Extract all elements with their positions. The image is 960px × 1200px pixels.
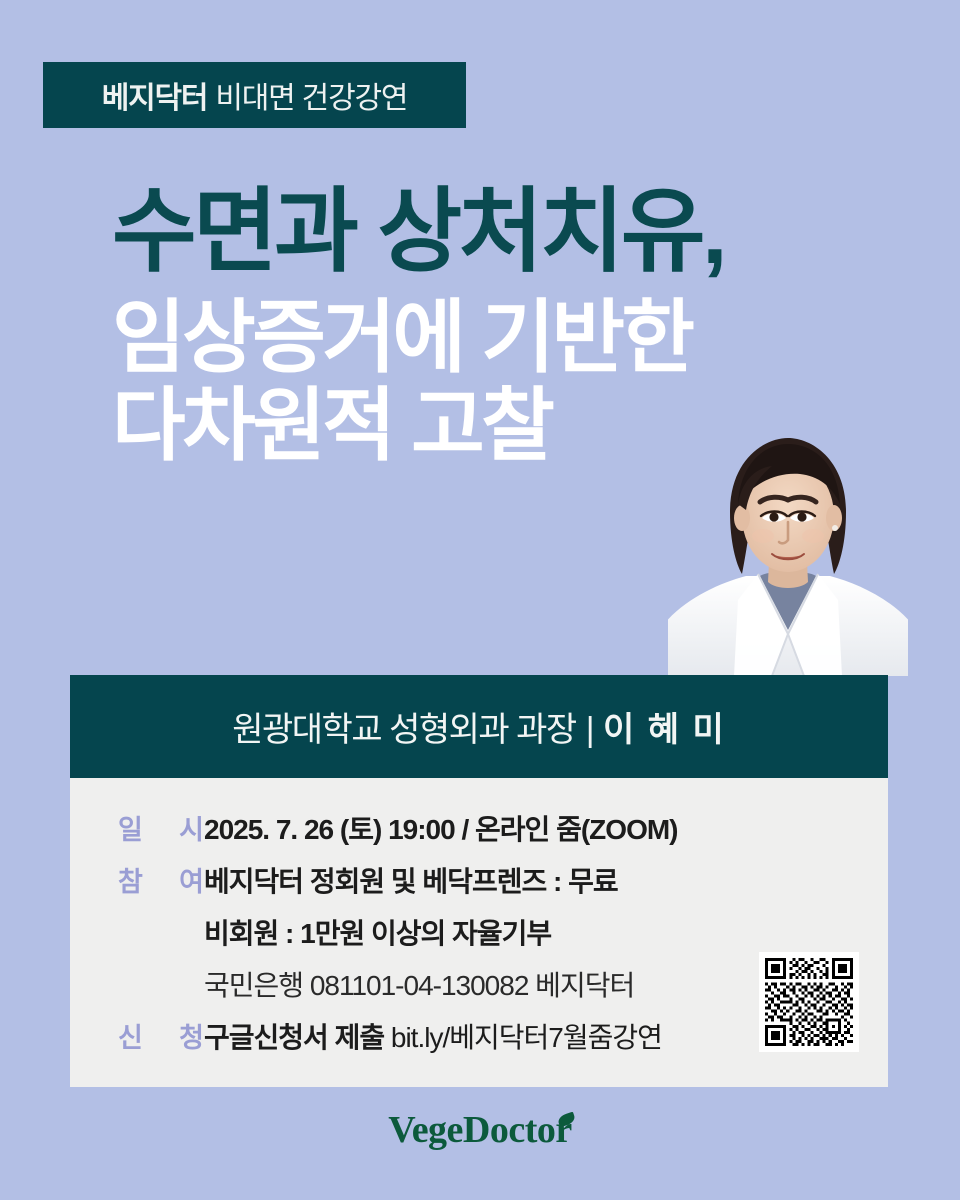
label-char-b: 청 <box>179 1016 204 1055</box>
label-char-a: 신 <box>118 1016 143 1055</box>
info-row-nonmember: 비회원 : 1만원 이상의 자율기부 <box>118 912 678 964</box>
speaker-bar: 원광대학교 성형외과 과장|이 혜 미 <box>70 675 888 778</box>
speaker-divider: | <box>576 711 603 749</box>
speaker-name: 이 혜 미 <box>603 711 726 749</box>
apply-text: 구글신청서 제출 <box>204 1022 384 1053</box>
info-row-participation: 참 여 베지닥터 정회원 및 베닥프렌즈 : 무료 <box>118 860 678 912</box>
label-char-a: 일 <box>118 808 143 847</box>
header-subtitle: 비대면 건강강연 <box>215 82 407 115</box>
label-char-b: 여 <box>179 860 204 899</box>
header-brand: 베지닥터 <box>102 82 208 115</box>
info-label-participation: 참 여 <box>118 860 204 899</box>
info-label-apply: 신 청 <box>118 1016 204 1055</box>
info-value-apply: 구글신청서 제출 bit.ly/베지닥터7월줌강연 <box>204 1016 662 1056</box>
info-label-datetime: 일 시 <box>118 808 204 847</box>
vegedoctor-logo-text: VegeDoctor <box>388 1108 572 1152</box>
header-banner: 베지닥터비대면 건강강연 <box>43 62 466 128</box>
info-row-bank: 국민은행 081101-04-130082 베지닥터 <box>118 964 678 1016</box>
info-row-apply: 신 청 구글신청서 제출 bit.ly/베지닥터7월줌강연 <box>118 1016 678 1068</box>
apply-url[interactable]: bit.ly/베지닥터7월줌강연 <box>391 1022 662 1053</box>
qr-code[interactable] <box>759 952 859 1052</box>
info-row-list: 일 시 2025. 7. 26 (토) 19:00 / 온라인 줌(ZOOM) … <box>118 808 678 1068</box>
logo-label: VegeDoctor <box>388 1109 572 1151</box>
speaker-bar-text: 원광대학교 성형외과 과장|이 혜 미 <box>232 702 726 751</box>
title-line-2: 임상증거에 기반한 <box>112 298 872 378</box>
info-value-nonmember: 비회원 : 1만원 이상의 자율기부 <box>204 912 551 952</box>
poster-root: 베지닥터비대면 건강강연 수면과 상처치유, 임상증거에 기반한 다차원적 고찰 <box>0 0 960 1200</box>
footer-logo: VegeDoctor <box>0 1108 960 1152</box>
info-value-participation-member: 베지닥터 정회원 및 베닥프렌즈 : 무료 <box>204 860 618 900</box>
label-char-a: 참 <box>118 860 143 899</box>
speaker-photo <box>668 424 908 676</box>
info-value-datetime: 2025. 7. 26 (토) 19:00 / 온라인 줌(ZOOM) <box>204 808 678 848</box>
title-line-1: 수면과 상처치유, <box>112 186 872 278</box>
info-row-datetime: 일 시 2025. 7. 26 (토) 19:00 / 온라인 줌(ZOOM) <box>118 808 678 860</box>
info-value-bank-account: 국민은행 081101-04-130082 베지닥터 <box>204 964 634 1004</box>
speaker-affiliation: 원광대학교 성형외과 과장 <box>232 711 575 749</box>
header-banner-text: 베지닥터비대면 건강강연 <box>102 73 408 117</box>
label-char-b: 시 <box>179 808 204 847</box>
